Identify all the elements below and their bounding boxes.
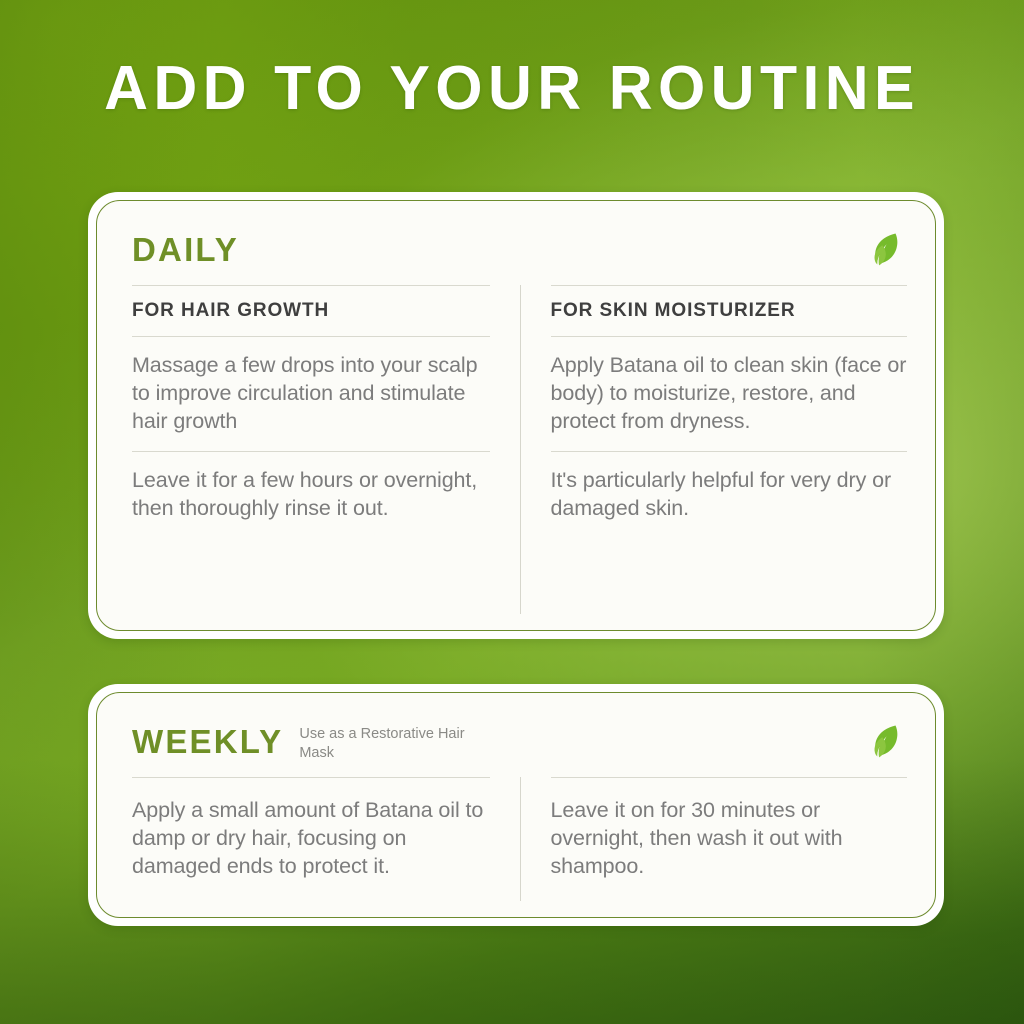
cell-hair-growth-1: Massage a few drops into your scalp to i…	[132, 351, 490, 435]
card-weekly-column-rinse: Leave it on for 30 minutes or overnight,…	[520, 777, 908, 901]
routine-infographic: ADD TO YOUR ROUTINE DAILY FOR HAIR GROWT…	[0, 0, 1024, 1024]
table-row: Apply a small amount of Batana oil to da…	[132, 777, 490, 896]
column-header-hair-growth: FOR HAIR GROWTH	[132, 300, 490, 323]
page-title: ADD TO YOUR ROUTINE	[10, 56, 1014, 121]
table-row: It's particularly helpful for very dry o…	[551, 451, 908, 538]
cell-skin-moisturizer-1: Apply Batana oil to clean skin (face or …	[551, 351, 908, 435]
card-weekly-header: WEEKLY Use as a Restorative Hair Mask	[132, 717, 907, 765]
cell-hair-growth-2: Leave it for a few hours or overnight, t…	[132, 466, 490, 522]
card-daily: DAILY FOR HAIR GROWTH Massage a few drop…	[88, 192, 944, 639]
card-weekly-column-apply: Apply a small amount of Batana oil to da…	[132, 777, 520, 901]
card-daily-inner: DAILY FOR HAIR GROWTH Massage a few drop…	[96, 200, 936, 631]
card-daily-column-skin-moisturizer: FOR SKIN MOISTURIZER Apply Batana oil to…	[520, 285, 908, 614]
card-weekly-inner: WEEKLY Use as a Restorative Hair Mask Ap…	[96, 692, 936, 918]
table-row: Apply Batana oil to clean skin (face or …	[551, 336, 908, 451]
table-row: Massage a few drops into your scalp to i…	[132, 336, 490, 451]
cell-skin-moisturizer-2: It's particularly helpful for very dry o…	[551, 466, 908, 522]
card-daily-header: DAILY	[132, 225, 907, 273]
table-row: Leave it on for 30 minutes or overnight,…	[551, 777, 908, 896]
cell-weekly-1: Apply a small amount of Batana oil to da…	[132, 796, 490, 880]
card-weekly-subtitle: Use as a Restorative Hair Mask	[299, 725, 489, 763]
card-daily-kicker: DAILY	[132, 233, 239, 266]
leaf-icon	[861, 718, 907, 764]
table-row: Leave it for a few hours or overnight, t…	[132, 451, 490, 538]
column-header-skin-moisturizer: FOR SKIN MOISTURIZER	[551, 300, 908, 323]
card-daily-column-hair-growth: FOR HAIR GROWTH Massage a few drops into…	[132, 285, 520, 614]
card-weekly: WEEKLY Use as a Restorative Hair Mask Ap…	[88, 684, 944, 926]
leaf-icon	[861, 226, 907, 272]
cell-weekly-2: Leave it on for 30 minutes or overnight,…	[551, 796, 908, 880]
column-header-cell: FOR HAIR GROWTH	[132, 285, 490, 336]
column-header-cell: FOR SKIN MOISTURIZER	[551, 285, 908, 336]
card-daily-grid: FOR HAIR GROWTH Massage a few drops into…	[132, 285, 907, 614]
card-weekly-grid: Apply a small amount of Batana oil to da…	[132, 777, 907, 901]
card-weekly-kicker: WEEKLY	[132, 725, 283, 758]
